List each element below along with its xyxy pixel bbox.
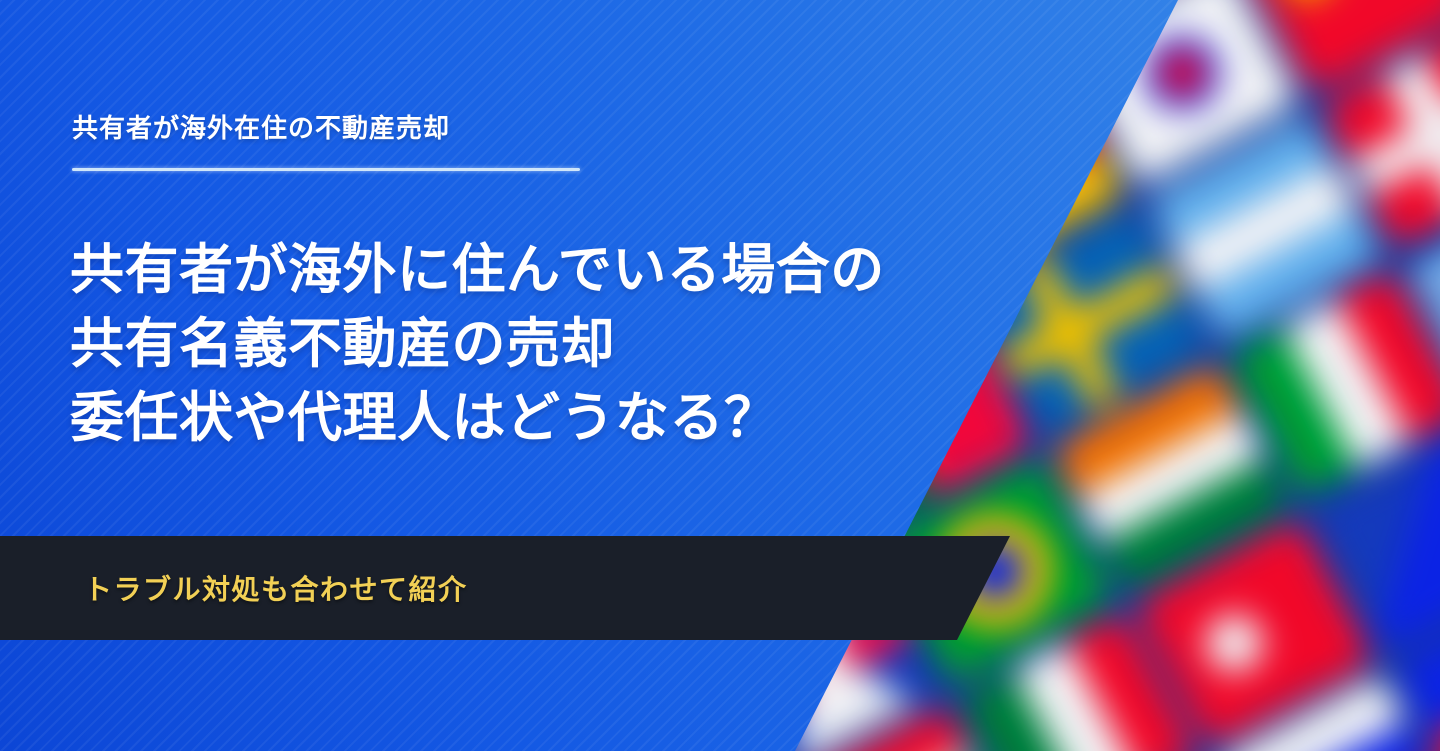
title-line-1: 共有者が海外に住んでいる場合の (70, 233, 970, 307)
subtitle-banner-label: トラブル対処も合わせて紹介 (84, 568, 468, 608)
eyebrow-label: 共有者が海外在住の不動産売却 (72, 108, 450, 145)
eyebrow-divider (72, 168, 580, 171)
title-line-2: 共有名義不動産の売却 (70, 307, 970, 381)
title-line-3: 委任状や代理人はどうなる？ (70, 381, 970, 455)
hero-banner-image: 共有者が海外在住の不動産売却 共有者が海外に住んでいる場合の 共有名義不動産の売… (0, 0, 1440, 751)
page-title: 共有者が海外に住んでいる場合の 共有名義不動産の売却 委任状や代理人はどうなる？ (70, 233, 970, 455)
